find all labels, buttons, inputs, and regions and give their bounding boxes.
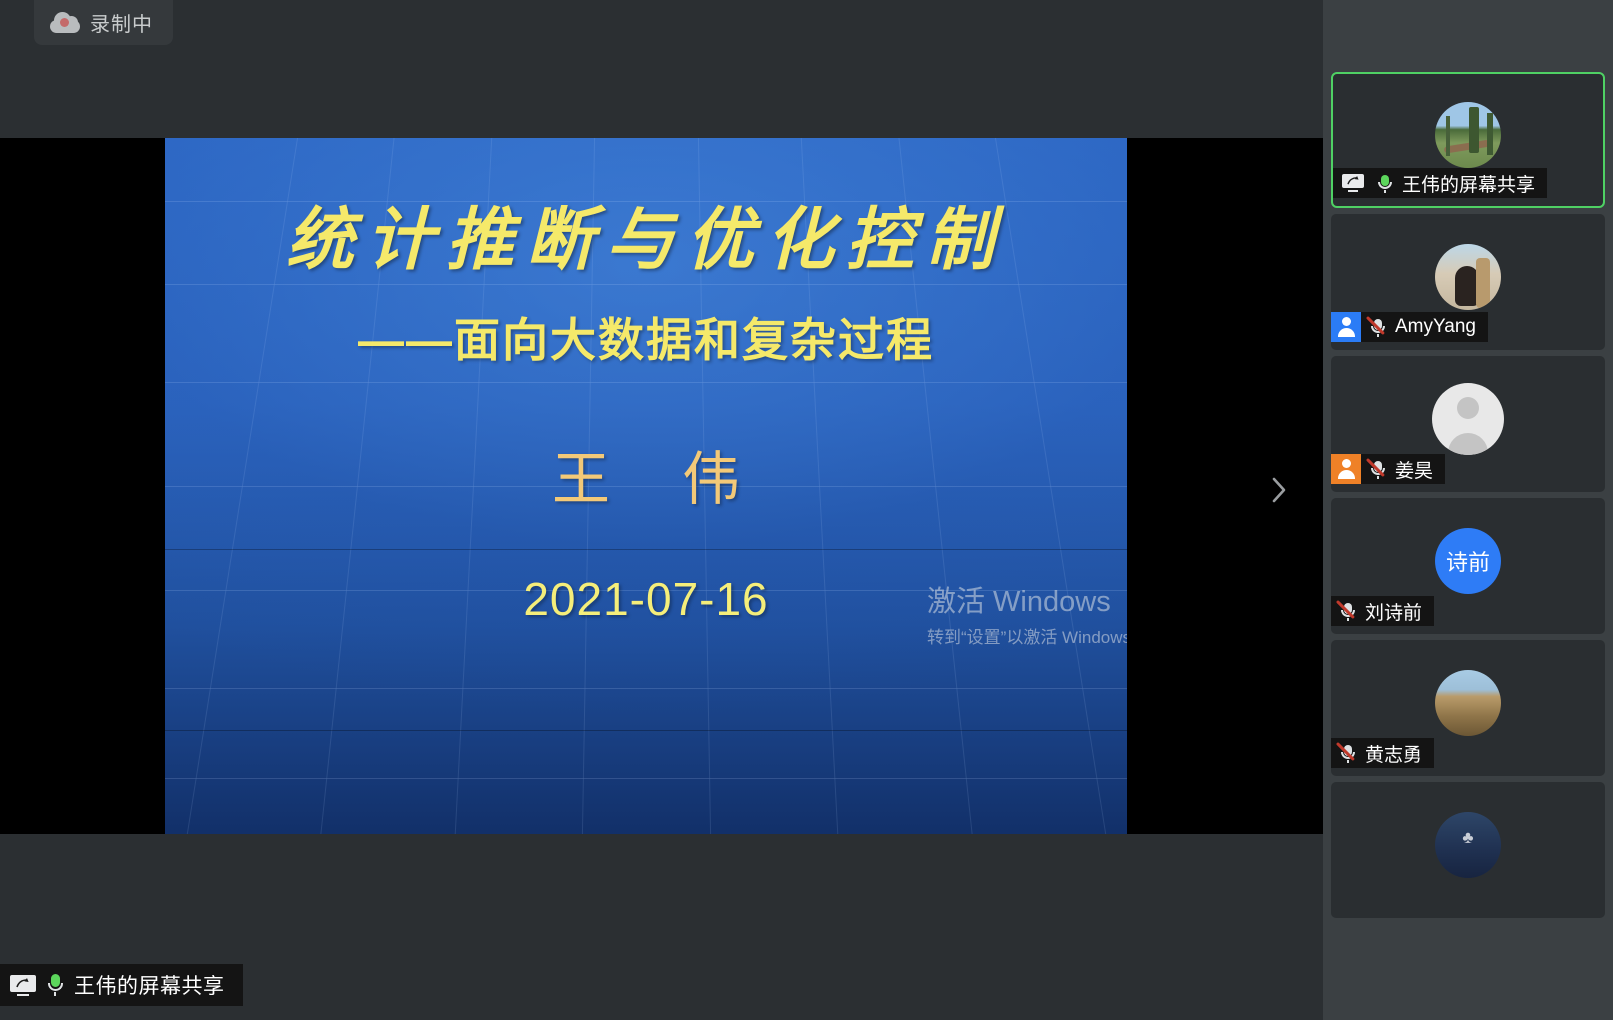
- slide-date: 2021-07-16: [165, 572, 1127, 626]
- participant-person-badge-icon: [1331, 312, 1361, 342]
- avatar: [1432, 383, 1504, 455]
- top-bar: 录制中: [0, 0, 1323, 138]
- participant-tile[interactable]: 诗前刘诗前: [1331, 498, 1605, 634]
- slide-author: 王 伟: [165, 432, 1127, 516]
- participant-name-bar: 姜昊: [1331, 454, 1445, 484]
- participant-name-bar: 刘诗前: [1331, 596, 1434, 626]
- cloud-record-icon: [50, 12, 80, 33]
- slide-title: 统计推断与优化控制: [165, 184, 1127, 283]
- microphone-unmuted-icon: [1377, 174, 1394, 193]
- microphone-muted-icon: [1340, 744, 1357, 763]
- participant-name: 姜昊: [1393, 456, 1445, 483]
- microphone-muted-icon: [1370, 318, 1387, 337]
- recording-label: 录制中: [90, 8, 153, 37]
- participant-tile[interactable]: [1331, 782, 1605, 918]
- chevron-right-icon[interactable]: [1262, 468, 1296, 512]
- microphone-unmuted-icon: [47, 974, 63, 996]
- participant-tile[interactable]: AmyYang: [1331, 214, 1605, 350]
- participant-name-bar: AmyYang: [1331, 312, 1488, 342]
- avatar: [1435, 670, 1501, 736]
- participant-name-bar: 黄志勇: [1331, 738, 1434, 768]
- meeting-screen-share-view: 录制中: [0, 0, 1613, 1020]
- avatar-initials: 诗前: [1435, 528, 1501, 594]
- shared-content-stage[interactable]: 统计推断与优化控制 ——面向大数据和复杂过程 王 伟 2021-07-16 激活…: [0, 138, 1323, 834]
- microphone-muted-icon: [1340, 602, 1357, 621]
- participant-name-bar: 王伟的屏幕共享: [1333, 168, 1547, 198]
- bottom-share-label: 王伟的屏幕共享: [0, 964, 243, 1006]
- participant-tile[interactable]: 黄志勇: [1331, 640, 1605, 776]
- slide-subtitle: ——面向大数据和复杂过程: [165, 304, 1127, 370]
- presentation-slide: 统计推断与优化控制 ——面向大数据和复杂过程 王 伟 2021-07-16 激活…: [165, 138, 1127, 834]
- recording-indicator[interactable]: 录制中: [34, 0, 173, 45]
- participant-tile[interactable]: 姜昊: [1331, 356, 1605, 492]
- avatar: [1435, 244, 1501, 310]
- participant-name: 黄志勇: [1363, 740, 1434, 767]
- participant-name: 刘诗前: [1363, 598, 1434, 625]
- screen-share-icon: [10, 975, 36, 996]
- screen-share-icon: [1342, 174, 1364, 192]
- participant-name: AmyYang: [1393, 316, 1488, 338]
- participants-sidebar[interactable]: 王伟的屏幕共享AmyYang姜昊诗前刘诗前黄志勇: [1323, 0, 1613, 1020]
- bottom-share-label-text: 王伟的屏幕共享: [74, 970, 225, 1000]
- avatar: [1435, 102, 1501, 168]
- bottom-bar: 王伟的屏幕共享: [0, 834, 1323, 1020]
- participant-person-badge-icon: [1331, 454, 1361, 484]
- participant-tile[interactable]: 王伟的屏幕共享: [1331, 72, 1605, 208]
- participant-name: 王伟的屏幕共享: [1400, 170, 1547, 197]
- avatar: [1435, 812, 1501, 878]
- microphone-muted-icon: [1370, 460, 1387, 479]
